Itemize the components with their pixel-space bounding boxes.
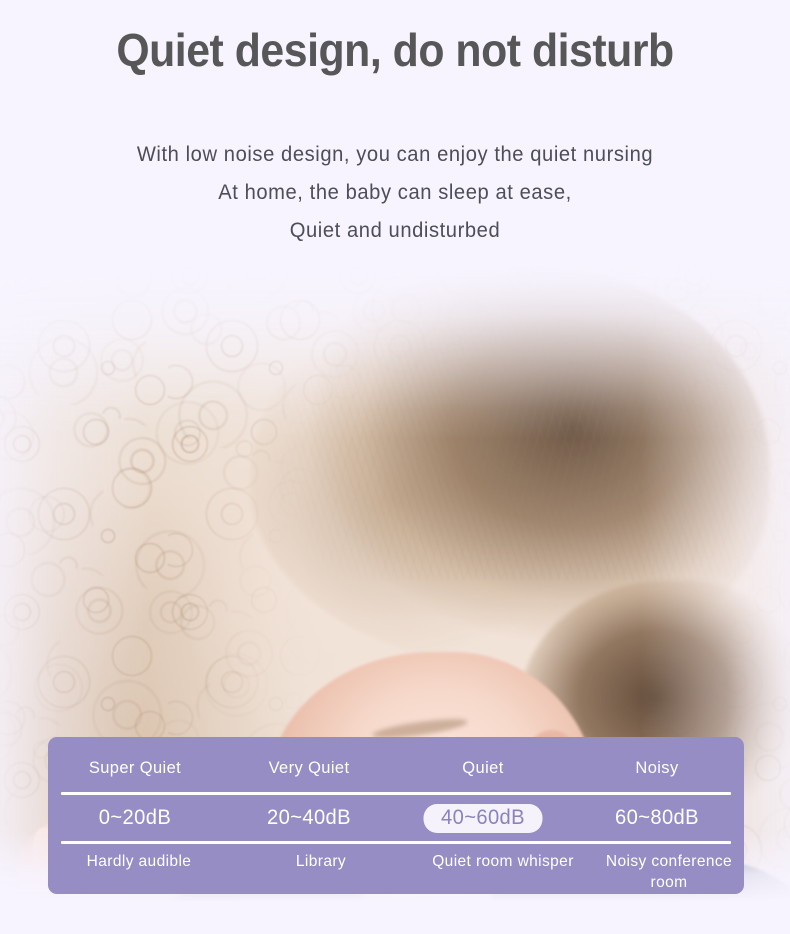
noise-range-super-quiet: 0~20dB xyxy=(51,804,218,833)
noise-level-super-quiet: Super Quiet xyxy=(51,757,220,779)
noise-level-row: Super Quiet Very Quiet Quiet Noisy xyxy=(48,737,744,779)
noise-example-quiet: Quiet room whisper xyxy=(415,851,592,893)
noise-example-very-quiet: Library xyxy=(233,851,410,893)
photo-fade-top xyxy=(0,250,790,440)
subtitle-line-2: At home, the baby can sleep at ease, xyxy=(16,174,774,212)
page-subtitle: With low noise design, you can enjoy the… xyxy=(16,136,774,250)
subtitle-line-3: Quiet and undisturbed xyxy=(16,212,774,250)
noise-level-quiet: Quiet xyxy=(399,757,568,779)
noise-range-very-quiet: 20~40dB xyxy=(225,804,392,833)
noise-example-row: Hardly audible Library Quiet room whispe… xyxy=(48,844,744,893)
noise-example-noisy: Noisy conference room xyxy=(596,851,742,893)
noise-range-quiet-highlight: 40~60dB xyxy=(424,804,543,833)
promo-page: Quiet design, do not disturb With low no… xyxy=(0,0,790,934)
noise-range-row: 0~20dB 20~40dB 40~60dB 60~80dB xyxy=(48,795,744,833)
noise-range-noisy: 60~80dB xyxy=(573,804,740,833)
noise-range-quiet-cell: 40~60dB xyxy=(399,804,566,833)
noise-level-card: Super Quiet Very Quiet Quiet Noisy 0~20d… xyxy=(48,737,744,894)
page-title: Quiet design, do not disturb xyxy=(28,24,763,77)
subtitle-line-1: With low noise design, you can enjoy the… xyxy=(16,136,774,174)
header-block: Quiet design, do not disturb With low no… xyxy=(0,0,790,262)
noise-example-super-quiet: Hardly audible xyxy=(51,851,228,893)
noise-level-very-quiet: Very Quiet xyxy=(225,757,394,779)
noise-level-noisy: Noisy xyxy=(573,757,742,779)
